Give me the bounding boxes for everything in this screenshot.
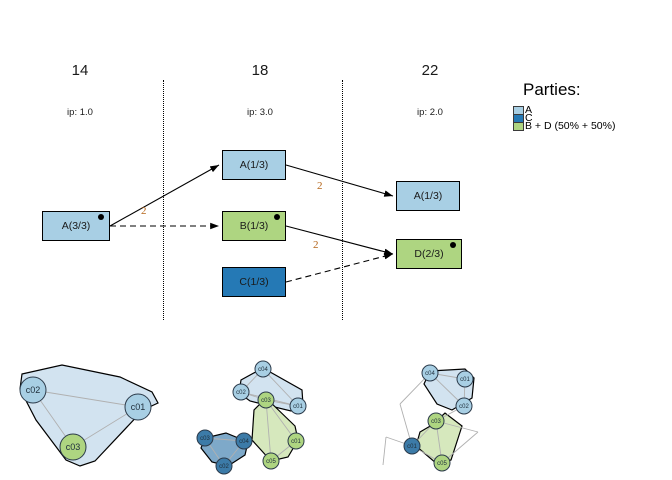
- cluster-node-c02-1[interactable]: c02: [233, 384, 249, 400]
- cluster-node-label: c02: [459, 404, 469, 410]
- cluster-node-label: c02: [236, 390, 246, 396]
- cluster-node-c05-5[interactable]: c05: [434, 455, 450, 471]
- node-c13[interactable]: C(1/3): [222, 267, 286, 297]
- node-marker-dot: [274, 214, 280, 220]
- cluster-node-c01-2[interactable]: c01: [290, 398, 306, 414]
- cluster-node-c05-8[interactable]: c05: [263, 453, 279, 469]
- cluster-node-label: c04: [258, 367, 268, 373]
- column-ip-col-18: ip: 3.0: [200, 107, 320, 118]
- cluster-node-c03-2[interactable]: c03: [60, 434, 86, 460]
- cluster-node-label: c01: [460, 377, 470, 383]
- column-title-col-14: 14: [20, 62, 140, 79]
- cluster-node-c01-4[interactable]: c01: [404, 438, 420, 454]
- timeline-edge-e-a33-a13: [110, 165, 219, 226]
- legend-swatch: [513, 122, 524, 131]
- cluster-node-label: c03: [200, 436, 210, 442]
- node-label: A(1/3): [240, 159, 269, 171]
- cluster-node-label: c02: [219, 464, 229, 470]
- cluster-1: c02c01c03: [20, 365, 158, 466]
- column-title-col-18: 18: [200, 62, 320, 79]
- cluster-node-c02-5[interactable]: c02: [216, 458, 232, 474]
- node-a13[interactable]: A(1/3): [396, 181, 460, 211]
- timeline-edge-e-c13-d23: [286, 254, 393, 282]
- cluster-node-c02-0[interactable]: c02: [20, 377, 46, 403]
- cluster-node-c03-3[interactable]: c03: [428, 413, 444, 429]
- cluster-3: c04c01c02c03c01c05: [383, 365, 478, 471]
- cluster-node-label: c02: [26, 385, 41, 395]
- cluster-node-c03-3[interactable]: c03: [197, 430, 213, 446]
- cluster-node-label: c03: [431, 419, 441, 425]
- cluster-node-label: c04: [239, 439, 249, 445]
- cluster-node-label: c03: [261, 398, 271, 404]
- column-divider-0: [163, 80, 164, 320]
- cluster-node-c01-1[interactable]: c01: [457, 371, 473, 387]
- legend-label: B + D (50% + 50%): [525, 120, 615, 132]
- cluster-link-12: [383, 437, 386, 465]
- node-marker-dot: [450, 242, 456, 248]
- cluster-node-label: c05: [266, 459, 276, 465]
- cluster-node-label: c04: [425, 371, 435, 377]
- node-label: D(2/3): [414, 248, 443, 260]
- cluster-node-label: c01: [131, 402, 146, 412]
- cluster-node-c04-4[interactable]: c04: [236, 433, 252, 449]
- cluster-node-c03-6[interactable]: c03: [258, 392, 274, 408]
- cluster-node-c04-0[interactable]: c04: [422, 365, 438, 381]
- cluster-node-label: c01: [407, 444, 417, 450]
- edge-weight-label: 2: [317, 180, 323, 192]
- cluster-node-c01-7[interactable]: c01: [288, 433, 304, 449]
- cluster-node-c04-0[interactable]: c04: [255, 361, 271, 377]
- cluster-node-c01-1[interactable]: c01: [125, 394, 151, 420]
- cluster-graphs-layer: c02c01c03c04c02c01c03c04c02c03c01c05c04c…: [20, 361, 478, 474]
- edge-weight-label: 2: [313, 239, 319, 251]
- cluster-node-label: c01: [291, 439, 301, 445]
- cluster-2: c04c02c01c03c04c02c03c01c05: [197, 361, 306, 474]
- column-ip-col-22: ip: 2.0: [370, 107, 490, 118]
- cluster-node-c02-2[interactable]: c02: [456, 398, 472, 414]
- column-divider-1: [342, 80, 343, 320]
- node-label: B(1/3): [240, 220, 269, 232]
- node-label: A(1/3): [414, 190, 443, 202]
- cluster-node-label: c05: [437, 461, 447, 467]
- column-title-col-22: 22: [370, 62, 490, 79]
- timeline-edge-e-a13-a13: [286, 165, 393, 196]
- node-marker-dot: [98, 214, 104, 220]
- cluster-node-label: c01: [293, 404, 303, 410]
- timeline-edge-e-b13-d23: [286, 226, 393, 254]
- node-a13[interactable]: A(1/3): [222, 150, 286, 180]
- node-label: C(1/3): [239, 276, 268, 288]
- column-ip-col-14: ip: 1.0: [20, 107, 140, 118]
- legend-title: Parties:: [523, 80, 581, 100]
- edge-weight-label: 2: [141, 205, 147, 217]
- node-label: A(3/3): [62, 220, 91, 232]
- cluster-node-label: c03: [66, 442, 81, 452]
